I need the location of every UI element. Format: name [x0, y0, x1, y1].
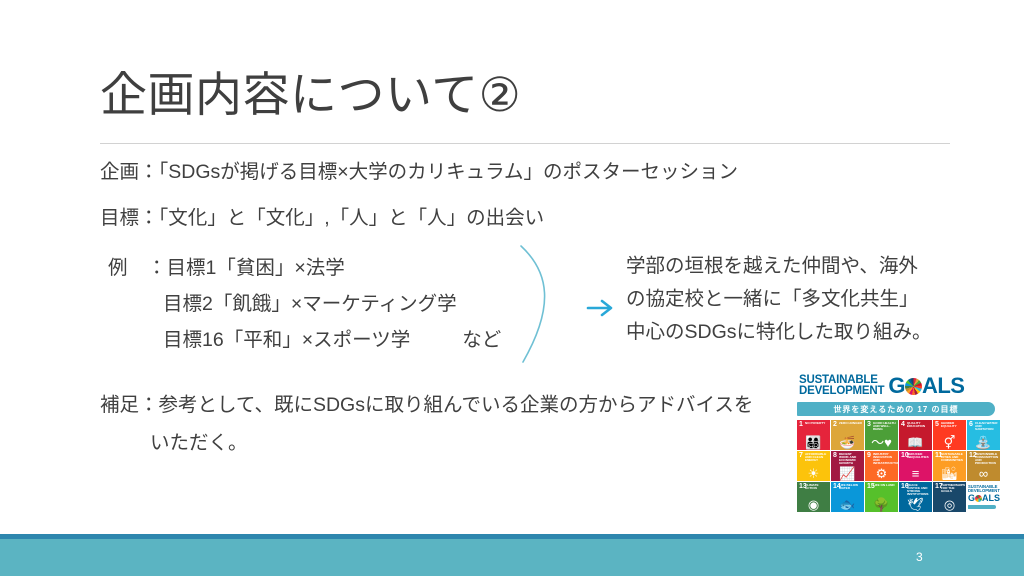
supplement-row-1: 補足：参考として、既にSDGsに取り組んでいる企業の方からアドバイスを	[100, 396, 753, 434]
sdg-wordmark: SUSTAINABLE DEVELOPMENT	[799, 375, 884, 396]
sdg-logo-tile-banner	[968, 505, 996, 509]
sdg-goal-name: LIFE ON LAND	[873, 484, 896, 487]
sdg-goal-tile-11: 11SUSTAINABLE CITIES AND COMMUNITIES🏙	[933, 451, 966, 481]
supplement-text-2: いただく。	[150, 432, 248, 454]
sdg-logo-tile-goals: GALS	[968, 494, 1000, 503]
sdg-goal-name: CLIMATE ACTION	[805, 484, 828, 490]
sdg-color-wheel-icon	[975, 495, 982, 502]
example-text-2: 目標2「飢餓」×マーケティング学	[163, 293, 457, 315]
sdg-goal-glyph-icon: ∞	[967, 467, 1000, 480]
sdg-goal-tile-1: 1NO POVERTY👨‍👩‍👧‍👦	[797, 420, 830, 450]
sdg-goal-tile-12: 12RESPONSIBLE CONSUMPTION AND PRODUCTION…	[967, 451, 1000, 481]
sdg-goal-name: QUALITY EDUCATION	[907, 422, 930, 428]
sdg-logo-block: SUSTAINABLE DEVELOPMENT G ALS 世界を変えるための …	[797, 372, 1003, 512]
sdg-goal-glyph-icon: 👨‍👩‍👧‍👦	[797, 436, 830, 449]
sdg-goal-name: ZERO HUNGER	[839, 422, 862, 425]
sdg-goals-pre: G	[888, 375, 905, 397]
sdg-banner: 世界を変えるための 17 の目標	[797, 402, 995, 416]
sdg-goal-glyph-icon: 🏙	[933, 467, 966, 480]
sdg-goal-tile-17: 17PARTNERSHIPS FOR THE GOALS◎	[933, 482, 966, 512]
sdg-goal-glyph-icon: 〜♥	[865, 436, 898, 449]
example-text-3: 目標16「平和」×スポーツ学	[163, 329, 410, 351]
sdg-goal-glyph-icon: 🕊	[899, 498, 932, 511]
sdg-goal-glyph-icon: ☀	[797, 467, 830, 480]
goal-line: 目標：「文化」と「文化」,「人」と「人」の出会い	[100, 209, 544, 229]
sdg-goal-name: RESPONSIBLE CONSUMPTION AND PRODUCTION	[975, 453, 998, 466]
sdg-goal-name: NO POVERTY	[805, 422, 828, 425]
sdg-goals-post: ALS	[922, 375, 965, 397]
etc-label: など	[462, 331, 501, 351]
sdg-goal-tile-14: 14LIFE BELOW WATER🐟	[831, 482, 864, 512]
sdg-goal-grid: 1NO POVERTY👨‍👩‍👧‍👦2ZERO HUNGER🍜3GOOD HEA…	[797, 420, 1003, 512]
supplement-row-2: いただく。	[100, 434, 753, 472]
sdg-goal-name: PEACE JUSTICE AND STRONG INSTITUTIONS	[907, 484, 930, 497]
plan-line: 企画：「SDGsが掲げる目標×大学のカリキュラム」のポスターセッション	[100, 163, 738, 183]
sdg-word-line-2: DEVELOPMENT	[799, 386, 884, 397]
sdg-goal-name: LIFE BELOW WATER	[839, 484, 862, 490]
sdg-goal-name: INDUSTRY INNOVATION AND INFRASTRUCTURE	[873, 453, 896, 466]
title-divider	[100, 143, 950, 144]
sdg-goal-number: 2	[833, 421, 837, 428]
example-text-1: 目標1「貧困」×法学	[167, 257, 345, 279]
sdg-goal-glyph-icon: 📈	[831, 467, 864, 480]
sdg-goal-tile-2: 2ZERO HUNGER🍜	[831, 420, 864, 450]
sdg-goal-number: 9	[867, 452, 871, 459]
sdg-goal-glyph-icon: ⛲	[967, 436, 1000, 449]
sdg-goal-tile-9: 9INDUSTRY INNOVATION AND INFRASTRUCTURE⚙	[865, 451, 898, 481]
sdg-goal-glyph-icon: ◉	[797, 498, 830, 511]
examples-label: 例 ：	[108, 259, 167, 279]
example-row-1: 例 ：目標1「貧困」×法学	[108, 259, 501, 295]
sdg-goal-name: CLEAN WATER AND SANITATION	[975, 422, 998, 432]
sdg-goal-glyph-icon: 🌳	[865, 498, 898, 511]
right-arrow-icon	[586, 297, 616, 319]
example-row-2: 目標2「飢餓」×マーケティング学	[108, 295, 501, 331]
example-row-3: 目標16「平和」×スポーツ学など	[108, 331, 501, 367]
sdg-goal-tile-15: 15LIFE ON LAND🌳	[865, 482, 898, 512]
sdg-goal-name: DECENT WORK AND ECONOMIC GROWTH	[839, 453, 862, 466]
supplement-block: 補足：参考として、既にSDGsに取り組んでいる企業の方からアドバイスを いただく…	[100, 396, 753, 472]
sdg-goal-tile-6: 6CLEAN WATER AND SANITATION⛲	[967, 420, 1000, 450]
sdg-goal-name: AFFORDABLE AND CLEAN ENERGY	[805, 453, 828, 463]
sdg-goal-name: GENDER EQUALITY	[941, 422, 964, 428]
sdg-logo-header: SUSTAINABLE DEVELOPMENT G ALS	[797, 372, 1003, 400]
conclusion-line-3: 中心のSDGsに特化した取り組み。	[626, 323, 932, 356]
sdg-goal-glyph-icon: ◎	[933, 498, 966, 511]
sdg-goal-number: 3	[867, 421, 871, 428]
sdg-goal-glyph-icon: ≡	[899, 467, 932, 480]
examples-block: 例 ：目標1「貧困」×法学 目標2「飢餓」×マーケティング学 目標16「平和」×…	[108, 259, 501, 367]
sdg-goal-number: 7	[799, 452, 803, 459]
sdg-goal-tile-16: 16PEACE JUSTICE AND STRONG INSTITUTIONS🕊	[899, 482, 932, 512]
sdg-goal-glyph-icon: 🍜	[831, 436, 864, 449]
sdg-goal-number: 4	[901, 421, 905, 428]
sdg-goal-name: PARTNERSHIPS FOR THE GOALS	[941, 484, 964, 494]
sdg-goal-number: 6	[969, 421, 973, 428]
sdg-goals-wordmark: G ALS	[888, 375, 964, 397]
sdg-goal-glyph-icon: 📖	[899, 436, 932, 449]
conclusion-line-1: 学部の垣根を越えた仲間や、海外	[626, 257, 932, 290]
sdg-goal-name: SUSTAINABLE CITIES AND COMMUNITIES	[941, 453, 964, 463]
sdg-goal-tile-5: 5GENDER EQUALITY⚥	[933, 420, 966, 450]
page-number: 3	[916, 550, 923, 564]
curly-brace-decoration	[515, 244, 563, 364]
sdg-logo-tile-goals-pre: G	[968, 494, 975, 503]
conclusion-line-2: の協定校と一緒に「多文化共生」	[626, 290, 932, 323]
sdg-goal-glyph-icon: ⚙	[865, 467, 898, 480]
supplement-text-1: 参考として、既にSDGsに取り組んでいる企業の方からアドバイスを	[159, 394, 754, 416]
sdg-goal-name: REDUCED INEQUALITIES	[907, 453, 930, 459]
sdg-logo-tile-goals-post: ALS	[982, 494, 1000, 503]
sdg-goal-tile-4: 4QUALITY EDUCATION📖	[899, 420, 932, 450]
sdg-goal-tile-7: 7AFFORDABLE AND CLEAN ENERGY☀	[797, 451, 830, 481]
sdg-color-wheel-icon	[905, 378, 922, 395]
sdg-goal-number: 8	[833, 452, 837, 459]
sdg-goal-number: 1	[799, 421, 803, 428]
sdg-goal-name: GOOD HEALTH AND WELL-BEING	[873, 422, 896, 432]
page-title: 企画内容について②	[100, 68, 521, 122]
supplement-label: 補足：	[100, 394, 159, 416]
sdg-logo-tile: SUSTAINABLEDEVELOPMENTGALS	[967, 482, 1000, 512]
sdg-goal-tile-8: 8DECENT WORK AND ECONOMIC GROWTH📈	[831, 451, 864, 481]
slide: 企画内容について② 企画：「SDGsが掲げる目標×大学のカリキュラム」のポスター…	[0, 0, 1024, 576]
sdg-goal-glyph-icon: 🐟	[831, 498, 864, 511]
sdg-goal-tile-13: 13CLIMATE ACTION◉	[797, 482, 830, 512]
sdg-goal-glyph-icon: ⚥	[933, 436, 966, 449]
sdg-goal-tile-10: 10REDUCED INEQUALITIES≡	[899, 451, 932, 481]
footer-band	[0, 539, 1024, 576]
sdg-goal-number: 5	[935, 421, 939, 428]
conclusion-block: 学部の垣根を越えた仲間や、海外 の協定校と一緒に「多文化共生」 中心のSDGsに…	[626, 257, 932, 356]
sdg-goal-tile-3: 3GOOD HEALTH AND WELL-BEING〜♥	[865, 420, 898, 450]
